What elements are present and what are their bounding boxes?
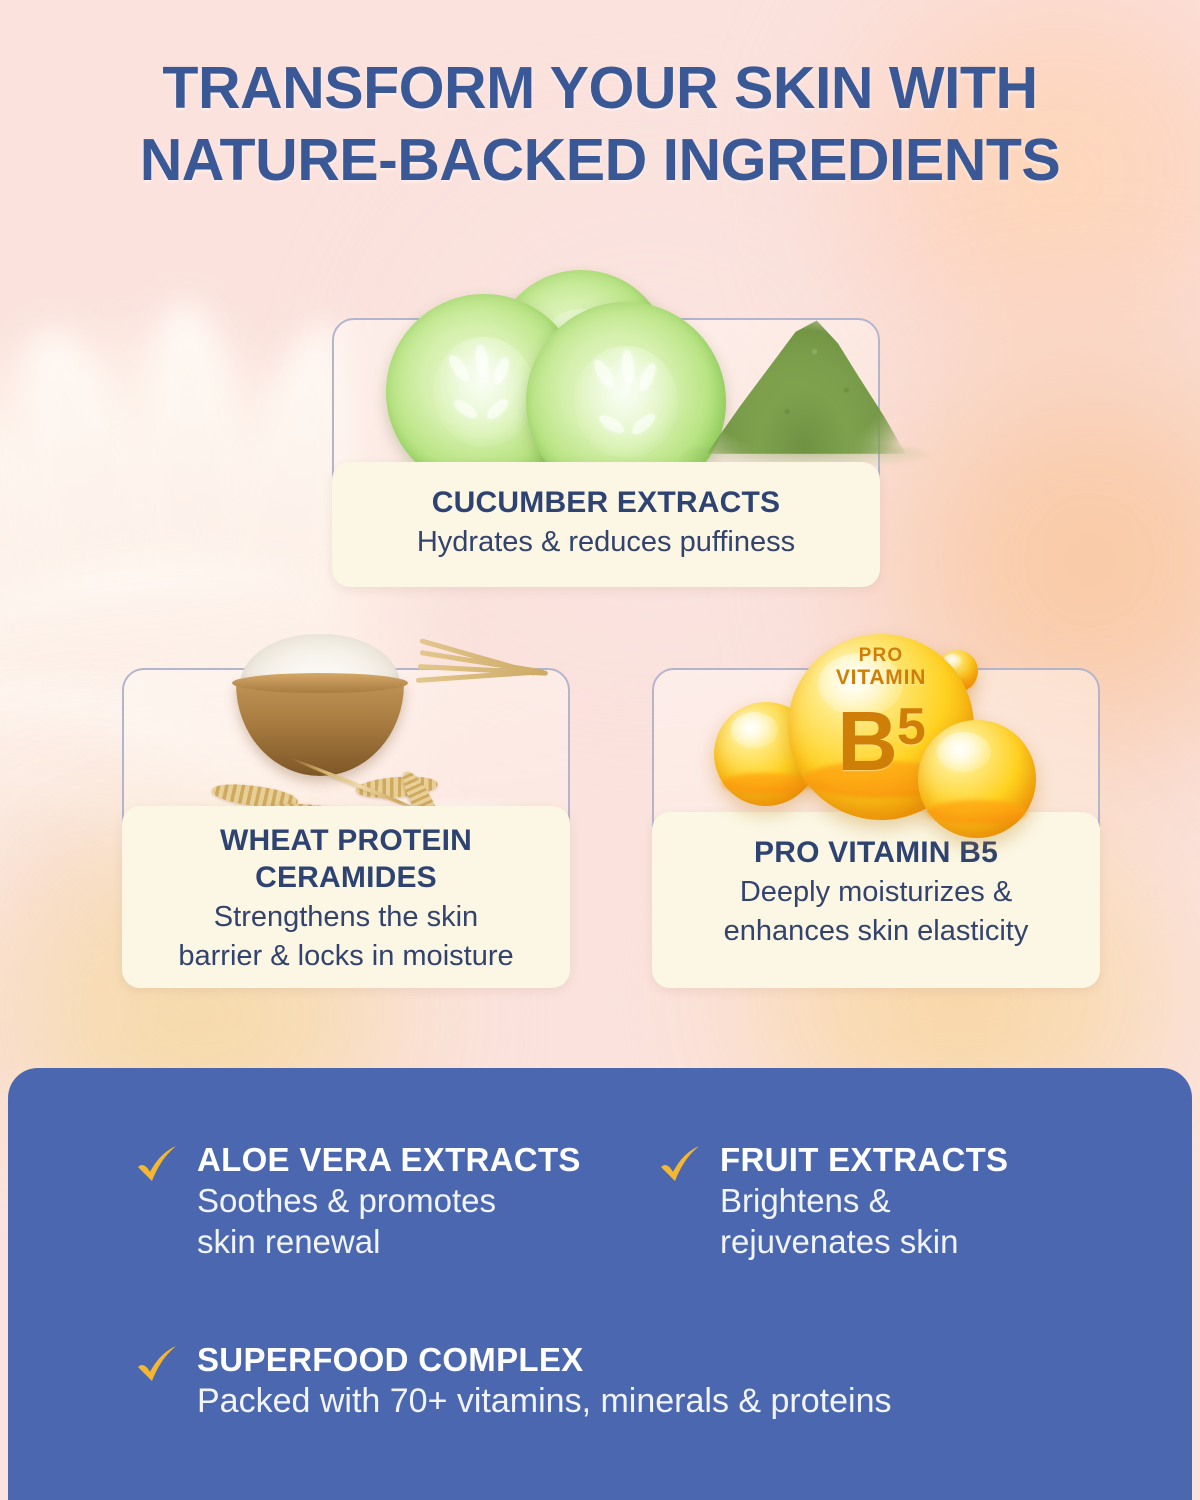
cucumber-slice-icon <box>386 294 582 490</box>
ingredient-caption-wheat-protein: WHEAT PROTEIN CERAMIDES Strengthens the … <box>122 806 570 988</box>
ingredient-caption-cucumber: CUCUMBER EXTRACTS Hydrates & reduces puf… <box>332 462 880 587</box>
ingredient-name-b5: PRO VITAMIN B5 <box>670 834 1082 871</box>
benefit-text-superfood-complex: SUPERFOOD COMPLEX Packed with 70+ vitami… <box>197 1340 891 1422</box>
benefit-sub-aloe-vera-line-2: skin renewal <box>197 1221 581 1262</box>
benefit-item-superfood-complex[interactable]: SUPERFOOD COMPLEX Packed with 70+ vitami… <box>135 1340 1115 1422</box>
wheat-straw <box>416 669 544 683</box>
ingredient-caption-pro-vitamin-b5: PRO VITAMIN B5 Deeply moisturizes & enha… <box>652 812 1100 988</box>
b5-label-vitamin: VITAMIN <box>788 666 974 689</box>
benefit-heading-fruit-extracts: FRUIT EXTRACTS <box>720 1140 1008 1180</box>
wooden-bowl-icon <box>236 680 404 776</box>
ingredient-name-wheat-line-1: WHEAT PROTEIN <box>140 822 552 859</box>
benefit-text-fruit-extracts: FRUIT EXTRACTS Brightens & rejuvenates s… <box>720 1140 1008 1262</box>
page-title: TRANSFORM YOUR SKIN WITH NATURE-BACKED I… <box>0 52 1200 196</box>
oil-droplet-icon <box>714 702 818 806</box>
benefit-heading-aloe-vera: ALOE VERA EXTRACTS <box>197 1140 581 1180</box>
benefit-item-aloe-vera[interactable]: ALOE VERA EXTRACTS Soothes & promotes sk… <box>135 1140 635 1262</box>
benefit-heading-superfood-complex: SUPERFOOD COMPLEX <box>197 1340 891 1380</box>
ingredient-name-wheat-line-2: CERAMIDES <box>140 859 552 896</box>
benefit-sub-fruit-extracts-line-2: rejuvenates skin <box>720 1221 1008 1262</box>
ingredient-benefit-wheat-line-1: Strengthens the skin <box>140 899 552 935</box>
benefit-text-aloe-vera: ALOE VERA EXTRACTS Soothes & promotes sk… <box>197 1140 581 1262</box>
ingredient-benefit-b5-line-1: Deeply moisturizes & <box>670 874 1082 910</box>
benefit-sub-aloe-vera-line-1: Soothes & promotes <box>197 1180 581 1221</box>
benefit-item-fruit-extracts[interactable]: FRUIT EXTRACTS Brightens & rejuvenates s… <box>658 1140 1108 1262</box>
ingredient-benefit-cucumber: Hydrates & reduces puffiness <box>350 524 862 560</box>
wheat-ear-icon <box>355 774 438 800</box>
page-title-line-2: NATURE-BACKED INGREDIENTS <box>40 124 1160 196</box>
b5-letter: B <box>837 694 897 788</box>
check-icon <box>135 1344 179 1388</box>
page-title-line-1: TRANSFORM YOUR SKIN WITH <box>40 52 1160 124</box>
b5-number: 5 <box>897 698 925 756</box>
benefit-sub-superfood-complex: Packed with 70+ vitamins, minerals & pro… <box>197 1380 891 1422</box>
ingredient-benefit-b5-line-2: enhances skin elasticity <box>670 913 1082 949</box>
b5-label-letter-number: B5 <box>788 687 974 781</box>
check-icon <box>135 1144 179 1188</box>
green-powder-mound-icon <box>698 312 910 454</box>
benefit-sub-fruit-extracts-line-1: Brightens & <box>720 1180 1008 1221</box>
ingredient-benefit-wheat-line-2: barrier & locks in moisture <box>140 938 552 974</box>
benefits-panel <box>8 1068 1192 1500</box>
check-icon <box>658 1144 702 1188</box>
infographic-page: TRANSFORM YOUR SKIN WITH NATURE-BACKED I… <box>0 0 1200 1500</box>
ingredient-name-cucumber: CUCUMBER EXTRACTS <box>350 484 862 521</box>
